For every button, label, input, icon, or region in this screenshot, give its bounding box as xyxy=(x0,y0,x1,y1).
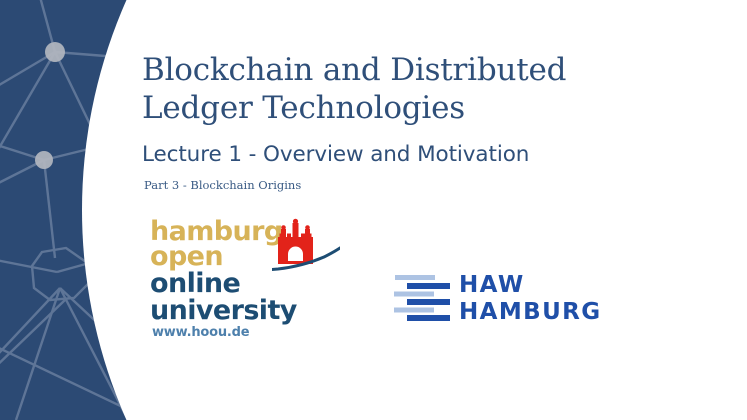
presentation-slide: Blockchain and DistributedLedger Technol… xyxy=(0,0,747,420)
slide-text-block: Blockchain and DistributedLedger Technol… xyxy=(142,52,712,193)
haw-wordmark: HAW HAMBURG xyxy=(459,272,602,326)
title-line-1: Blockchain and Distributed xyxy=(142,52,566,88)
haw-word-line-2: HAMBURG xyxy=(459,299,602,326)
haw-bars-icon xyxy=(394,274,450,326)
hoou-url-label: www.hoou.de xyxy=(152,326,249,339)
page-title: Blockchain and DistributedLedger Technol… xyxy=(142,52,712,128)
hoou-word-university: university xyxy=(150,297,297,324)
hoou-logo: hamburg open online university www.hoou.… xyxy=(148,218,340,340)
slide-part-label: Part 3 - Blockchain Origins xyxy=(144,179,712,193)
title-line-2: Ledger Technologies xyxy=(142,90,465,126)
slide-subtitle: Lecture 1 - Overview and Motivation xyxy=(142,142,712,168)
haw-word-line-1: HAW xyxy=(459,272,602,299)
hamburg-coat-of-arms-icon xyxy=(272,218,340,274)
haw-hamburg-logo: HAW HAMBURG xyxy=(394,272,599,330)
hoou-word-open: open xyxy=(150,243,223,270)
hoou-word-online: online xyxy=(150,270,240,297)
